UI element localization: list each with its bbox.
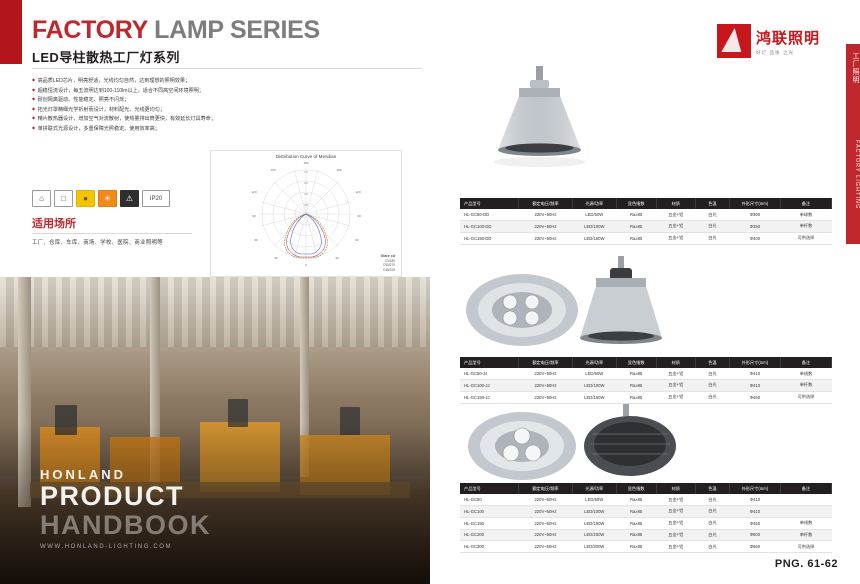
title-main: FACTORY — [32, 16, 148, 44]
cell-cct: 白光 — [696, 391, 730, 403]
page-title: FACTORY LAMP SERIES — [32, 16, 320, 45]
logo-text: 鸿联照明 — [756, 27, 820, 48]
cell-cct: 白光 — [696, 494, 730, 505]
cell-voltage: 220V~50Hz — [519, 517, 573, 529]
col-source: 光源/功率 — [572, 357, 616, 368]
table-row: HL-GC300 220V~50Hz LED/300W Ra≥85 五金+铝 白… — [460, 541, 832, 553]
cell-voltage: 220V~50Hz — [519, 209, 573, 220]
cell-cri: Ra≥85 — [616, 529, 656, 541]
col-model: 产品型号 — [460, 357, 519, 368]
cell-model: HL-GC50-DD — [460, 209, 519, 220]
cell-size: Φ400 — [729, 232, 780, 244]
cell-model: HL-GC150 — [460, 517, 519, 529]
cell-cct: 白光 — [696, 517, 730, 529]
cell-source: LED/100W — [572, 220, 616, 232]
cell-cri: Ra≥85 — [616, 220, 656, 232]
warning-icon: ⚠ — [120, 190, 139, 207]
photo-line2: HANDBOOK — [40, 511, 211, 540]
catalog-page: FACTORY LAMP SERIES LED导柱散热工厂灯系列 高品质LED芯… — [0, 0, 860, 584]
cell-source: LED/100W — [572, 379, 616, 391]
photo-robot — [228, 399, 248, 427]
table-row: HL-GC50-JJ 220V~50Hz LED/50W Ra≥85 五金+铝 … — [460, 368, 832, 379]
svg-text:400: 400 — [304, 171, 309, 174]
feature-item: 单拼联式光源设计，多重保障光照稳定、使用效率高； — [32, 124, 282, 134]
product-image-3 — [460, 400, 690, 490]
table-row: HL-GC150-DD 220V~50Hz LED/150W Ra≥85 五金+… — [460, 232, 832, 244]
side-tab: 工厂照明 FACTORY LIGHTING — [846, 44, 860, 244]
cell-cct: 白光 — [696, 379, 730, 391]
col-material: 材质 — [656, 198, 696, 209]
applications-divider — [32, 233, 192, 234]
col-size: 外形尺寸(mm) — [729, 198, 780, 209]
cell-source: LED/300W — [572, 541, 616, 553]
feature-item: 超稳恒流设计，每五流明达到100-110lm以上，适合不同高空间环境照明； — [32, 86, 282, 96]
applications-text: 工厂、仓库、车库、商场、学校、医院、商业照明等 — [32, 238, 163, 246]
cell-size: Φ410 — [729, 368, 780, 379]
table-row: HL-GC50 220V~50Hz LED/50W Ra≥85 五金+铝 白光 … — [460, 494, 832, 505]
cell-model: HL-GC100 — [460, 505, 519, 517]
cell-cri: Ra≥85 — [616, 209, 656, 220]
col-voltage: 额定电压/频率 — [519, 198, 573, 209]
col-source: 光源/功率 — [572, 483, 616, 494]
cell-note: 单杆数 — [780, 529, 831, 541]
col-material: 材质 — [656, 357, 696, 368]
col-cri: 显色指数 — [616, 483, 656, 494]
svg-text:120: 120 — [355, 190, 360, 194]
cell-size: Φ410 — [729, 494, 780, 505]
legend-item: C0/180 — [385, 259, 395, 263]
col-model: 产品型号 — [460, 198, 519, 209]
bulb-icon: ● — [76, 190, 95, 207]
table-header-row: 产品型号 额定电压/频率 光源/功率 显色指数 材质 色温 外形尺寸(mm) 备… — [460, 198, 832, 209]
cell-note: 可供选择 — [780, 391, 831, 403]
cell-voltage: 220V~50Hz — [519, 494, 573, 505]
spec-table-3: 产品型号 额定电压/频率 光源/功率 显色指数 材质 色温 外形尺寸(mm) 备… — [460, 483, 832, 553]
cell-cct: 白光 — [696, 220, 730, 232]
cell-source: LED/50W — [572, 209, 616, 220]
svg-text:60: 60 — [355, 238, 359, 242]
col-model: 产品型号 — [460, 483, 519, 494]
table-row: HL-GC100-JJ 220V~50Hz LED/100W Ra≥85 五金+… — [460, 379, 832, 391]
col-voltage: 额定电压/频率 — [519, 483, 573, 494]
photo-line1: PRODUCT — [40, 482, 211, 511]
col-note: 备注 — [780, 483, 831, 494]
cell-material: 五金+铝 — [656, 494, 696, 505]
cell-note: 单杆数 — [780, 379, 831, 391]
side-tab-label-en: FACTORY LIGHTING — [846, 140, 860, 209]
col-cri: 显色指数 — [616, 198, 656, 209]
cell-cct: 白光 — [696, 505, 730, 517]
cell-note: 单线数 — [780, 517, 831, 529]
feature-item: 拓光灯罩精细光学折射而设计，材料配光、光线更均匀； — [32, 105, 282, 115]
cell-size: Φ410 — [729, 379, 780, 391]
logo-tagline: 好灯 品质 之光 — [756, 50, 820, 56]
photo-ceiling — [0, 277, 430, 347]
spec-table-1: 产品型号 额定电压/频率 光源/功率 显色指数 材质 色温 外形尺寸(mm) 备… — [460, 198, 832, 245]
diagram-title: Distribution Curve of Meridian — [211, 154, 401, 159]
cell-note: 可供选择 — [780, 232, 831, 244]
cell-source: LED/50W — [572, 368, 616, 379]
table-row: HL-GC150 220V~50Hz LED/150W Ra≥85 五金+铝 白… — [460, 517, 832, 529]
cell-material: 五金+铝 — [656, 379, 696, 391]
applications-heading: 适用场所 — [32, 215, 76, 231]
cell-size: Φ500 — [729, 529, 780, 541]
col-cct: 色温 — [696, 483, 730, 494]
col-note: 备注 — [780, 357, 831, 368]
feature-list: 高品质LED芯片，明亮舒适，光线均匀自然，达到理想的照明效果； 超稳恒流设计，每… — [32, 76, 282, 134]
cell-size: Φ560 — [729, 541, 780, 553]
cell-source: LED/200W — [572, 529, 616, 541]
cell-cri: Ra≥85 — [616, 541, 656, 553]
col-source: 光源/功率 — [572, 198, 616, 209]
table-row: HL-GC100 220V~50Hz LED/100W Ra≥85 五金+铝 白… — [460, 505, 832, 517]
col-cct: 色温 — [696, 198, 730, 209]
svg-text:90: 90 — [252, 214, 256, 218]
cell-cri: Ra≥85 — [616, 494, 656, 505]
cell-material: 五金+铝 — [656, 529, 696, 541]
svg-text:300: 300 — [304, 182, 309, 185]
product-image-1 — [460, 62, 620, 172]
cell-cri: Ra≥85 — [616, 505, 656, 517]
cell-source: LED/150W — [572, 517, 616, 529]
cell-note: 可供选择 — [780, 541, 831, 553]
house-icon: ⌂ — [32, 190, 51, 207]
svg-text:30: 30 — [335, 256, 339, 260]
cell-model: HL-GC50-JJ — [460, 368, 519, 379]
feature-icon-row: ⌂ □ ● ☀ ⚠ IP20 — [32, 190, 170, 207]
cell-cct: 白光 — [696, 368, 730, 379]
brand-logo: 鸿联照明 好灯 品质 之光 — [717, 24, 820, 58]
svg-text:150: 150 — [336, 168, 341, 172]
ip20-icon: IP20 — [142, 190, 170, 207]
cell-material: 五金+铝 — [656, 541, 696, 553]
cell-size: Φ300 — [729, 209, 780, 220]
table-row: HL-GC200 220V~50Hz LED/200W Ra≥85 五金+铝 白… — [460, 529, 832, 541]
title-sub: LAMP SERIES — [154, 16, 320, 44]
cell-source: LED/150W — [572, 232, 616, 244]
lamp-icon: □ — [54, 190, 73, 207]
photo-caption: HONLAND PRODUCT HANDBOOK WWW.HONLAND-LIG… — [40, 467, 211, 550]
product-image-2 — [460, 250, 690, 360]
cell-size: Φ450 — [729, 391, 780, 403]
cell-material: 五金+铝 — [656, 220, 696, 232]
cell-cct: 白光 — [696, 209, 730, 220]
cell-material: 五金+铝 — [656, 368, 696, 379]
feature-item: 精片散热器设计，增加空气对流散射，使热量排出筒更快，有效延长灯具寿命； — [32, 114, 282, 124]
cell-model: HL-GC100-JJ — [460, 379, 519, 391]
photo-brand: HONLAND — [40, 467, 211, 482]
cell-material: 五金+铝 — [656, 209, 696, 220]
cell-model: HL-GC100-DD — [460, 220, 519, 232]
cell-note — [780, 505, 831, 517]
table-row: HL-GC100-DD 220V~50Hz LED/100W Ra≥85 五金+… — [460, 220, 832, 232]
left-column: FACTORY LAMP SERIES LED导柱散热工厂灯系列 高品质LED芯… — [0, 0, 430, 584]
title-chinese: LED导柱散热工厂灯系列 — [32, 47, 180, 66]
table-header-row: 产品型号 额定电压/频率 光源/功率 显色指数 材质 色温 外形尺寸(mm) 备… — [460, 483, 832, 494]
cell-voltage: 220V~50Hz — [519, 232, 573, 244]
cell-voltage: 220V~50Hz — [519, 368, 573, 379]
col-note: 备注 — [780, 198, 831, 209]
col-voltage: 额定电压/频率 — [519, 357, 573, 368]
cell-material: 五金+铝 — [656, 517, 696, 529]
diagram-legend: Glare cd C0/180 C90/270 C45/225 — [381, 254, 395, 272]
svg-text:200: 200 — [304, 193, 309, 196]
svg-text:100: 100 — [304, 204, 309, 207]
cell-material: 五金+铝 — [656, 505, 696, 517]
cell-size: Φ450 — [729, 517, 780, 529]
cell-material: 五金+铝 — [656, 232, 696, 244]
cell-cct: 白光 — [696, 232, 730, 244]
polar-chart-svg: 180 150 120 90 60 30 0 30 60 90 120 150 … — [211, 151, 401, 276]
cell-voltage: 220V~50Hz — [519, 220, 573, 232]
cell-model: HL-GC200 — [460, 529, 519, 541]
cell-cri: Ra≥85 — [616, 368, 656, 379]
cell-source: LED/100W — [572, 505, 616, 517]
cell-model: HL-GC150-DD — [460, 232, 519, 244]
cell-note: 单球数 — [780, 209, 831, 220]
cell-note: 单杆数 — [780, 220, 831, 232]
cell-cri: Ra≥85 — [616, 232, 656, 244]
svg-text:60: 60 — [254, 238, 258, 242]
cell-model: HL-GC50 — [460, 494, 519, 505]
cell-voltage: 220V~50Hz — [519, 379, 573, 391]
logo-mark-icon — [717, 24, 751, 58]
col-cri: 显色指数 — [616, 357, 656, 368]
diagram-legend-title: Glare cd — [381, 254, 395, 258]
side-tab-label-cn: 工厂照明 — [846, 52, 860, 84]
cell-cct: 白光 — [696, 541, 730, 553]
cell-cct: 白光 — [696, 529, 730, 541]
factory-photo: HONLAND PRODUCT HANDBOOK WWW.HONLAND-LIG… — [0, 277, 430, 584]
cell-note: 单线数 — [780, 368, 831, 379]
col-cct: 色温 — [696, 357, 730, 368]
svg-text:180: 180 — [303, 161, 308, 165]
title-divider — [32, 68, 422, 69]
svg-text:120: 120 — [251, 190, 256, 194]
page-number: PNG. 61-62 — [775, 558, 838, 570]
cell-model: HL-GC300 — [460, 541, 519, 553]
table-header-row: 产品型号 额定电压/频率 光源/功率 显色指数 材质 色温 外形尺寸(mm) 备… — [460, 357, 832, 368]
col-material: 材质 — [656, 483, 696, 494]
photo-url: WWW.HONLAND-LIGHTING.COM — [40, 544, 211, 550]
cell-voltage: 220V~50Hz — [519, 541, 573, 553]
cell-size: Φ350 — [729, 220, 780, 232]
table-row: HL-GC50-DD 220V~50Hz LED/50W Ra≥85 五金+铝 … — [460, 209, 832, 220]
red-accent-bar — [0, 0, 22, 64]
legend-item: C90/270 — [383, 263, 395, 267]
cell-source: LED/50W — [572, 494, 616, 505]
cell-voltage: 220V~50Hz — [519, 505, 573, 517]
col-size: 外形尺寸(mm) — [729, 357, 780, 368]
photometric-diagram: Distribution Curve of Meridian — [210, 150, 402, 277]
cell-voltage: 220V~50Hz — [519, 529, 573, 541]
cell-size: Φ410 — [729, 505, 780, 517]
right-column: 鸿联照明 好灯 品质 之光 工厂照明 FACTORY LIGHTING 产品型号… — [430, 0, 860, 584]
warm-icon: ☀ — [98, 190, 117, 207]
cell-note — [780, 494, 831, 505]
feature-item: 高品质LED芯片，明亮舒适，光线均匀自然，达到理想的照明效果； — [32, 76, 282, 86]
legend-item: C45/225 — [383, 268, 395, 272]
feature-item: 耐创隔离驱动、性能稳定、照亮不闪烁； — [32, 95, 282, 105]
svg-text:90: 90 — [357, 214, 361, 218]
svg-text:30: 30 — [274, 256, 278, 260]
cell-cri: Ra≥85 — [616, 379, 656, 391]
spec-table-2: 产品型号 额定电压/频率 光源/功率 显色指数 材质 色温 外形尺寸(mm) 备… — [460, 357, 832, 404]
cell-cri: Ra≥85 — [616, 517, 656, 529]
col-size: 外形尺寸(mm) — [729, 483, 780, 494]
svg-text:0: 0 — [305, 263, 307, 267]
svg-text:150: 150 — [270, 168, 275, 172]
